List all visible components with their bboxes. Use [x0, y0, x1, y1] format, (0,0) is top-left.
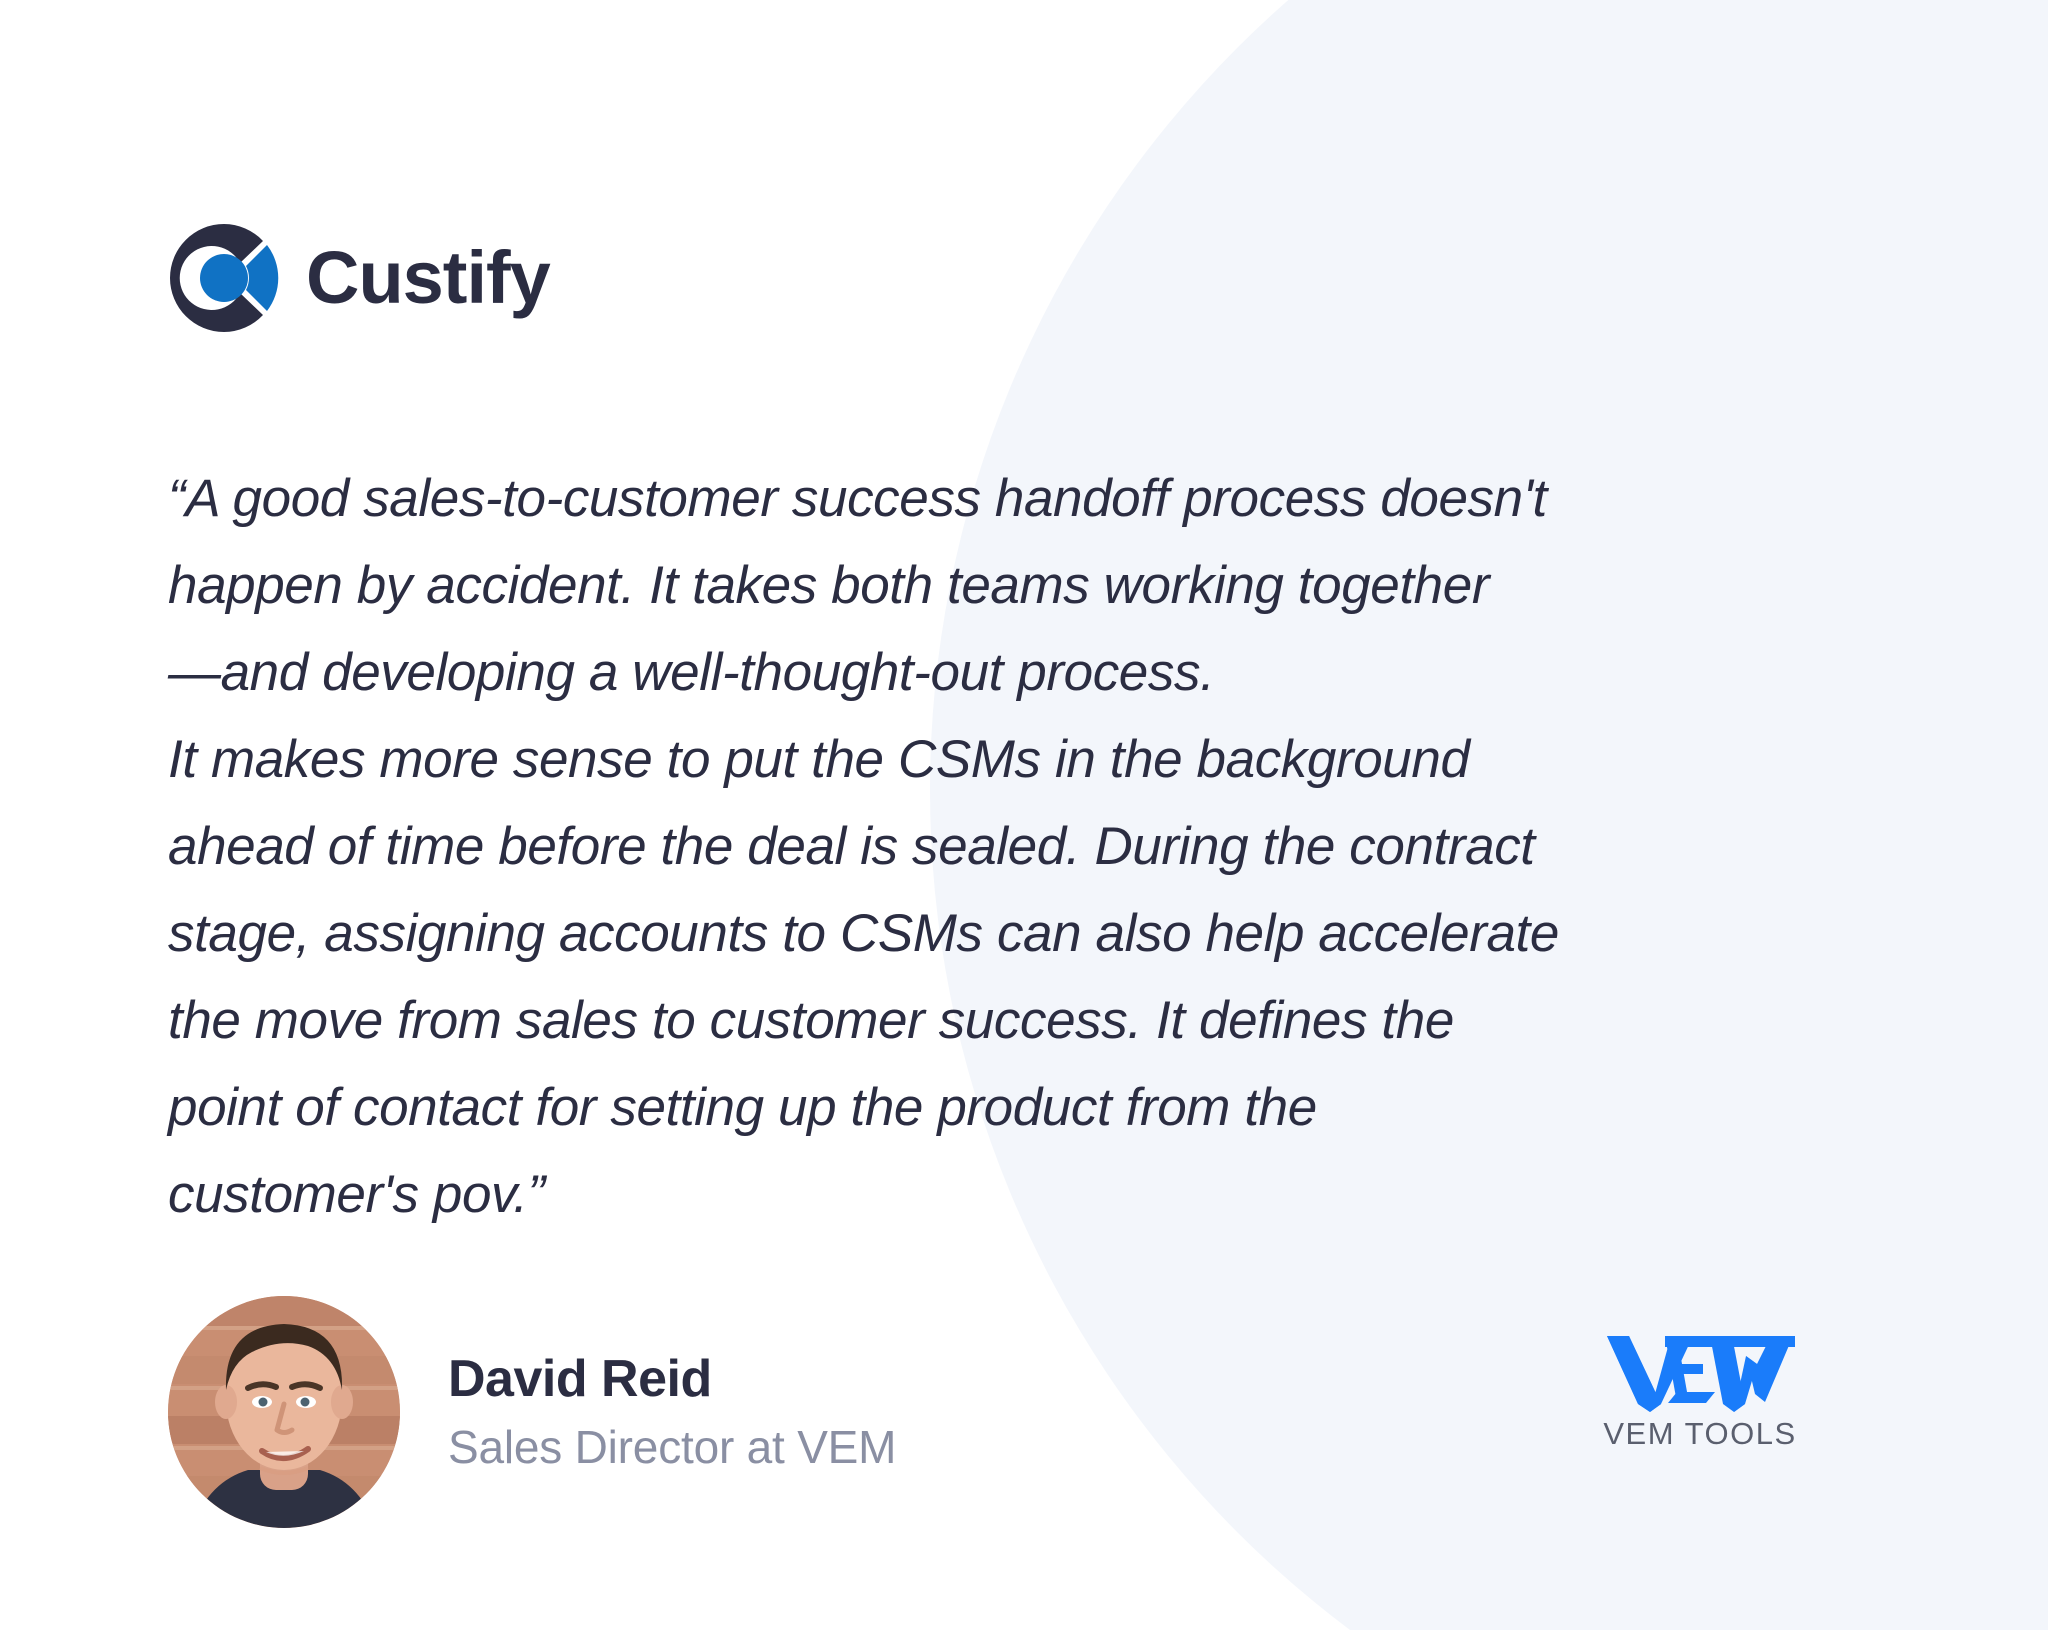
quote-line: customer's pov.”: [168, 1151, 1888, 1238]
brand-name: Custify: [306, 241, 550, 315]
quote-line: “A good sales-to-customer success handof…: [168, 455, 1888, 542]
quote-line: It makes more sense to put the CSMs in t…: [168, 716, 1888, 803]
author-block: David Reid Sales Director at VEM: [168, 1296, 896, 1528]
quote-line: the move from sales to customer success.…: [168, 977, 1888, 1064]
partner-name: VEM TOOLS: [1603, 1418, 1796, 1449]
brand-logo: Custify: [168, 222, 550, 334]
quote-line: —and developing a well-thought-out proce…: [168, 629, 1888, 716]
quote-line: happen by accident. It takes both teams …: [168, 542, 1888, 629]
custify-logo-icon: [168, 222, 280, 334]
author-role: Sales Director at VEM: [448, 1422, 896, 1473]
testimonial-quote: “A good sales-to-customer success handof…: [168, 455, 1888, 1238]
avatar: [168, 1296, 400, 1528]
card-content: Custify “A good sales-to-customer succes…: [0, 0, 2048, 1630]
author-name: David Reid: [448, 1351, 896, 1408]
vem-monogram-icon: [1605, 1330, 1795, 1412]
author-details: David Reid Sales Director at VEM: [448, 1351, 896, 1473]
quote-line: ahead of time before the deal is sealed.…: [168, 803, 1888, 890]
quote-line: stage, assigning accounts to CSMs can al…: [168, 890, 1888, 977]
testimonial-card: Custify “A good sales-to-customer succes…: [0, 0, 2048, 1630]
quote-line: point of contact for setting up the prod…: [168, 1064, 1888, 1151]
partner-logo: VEM TOOLS: [1600, 1330, 1800, 1449]
